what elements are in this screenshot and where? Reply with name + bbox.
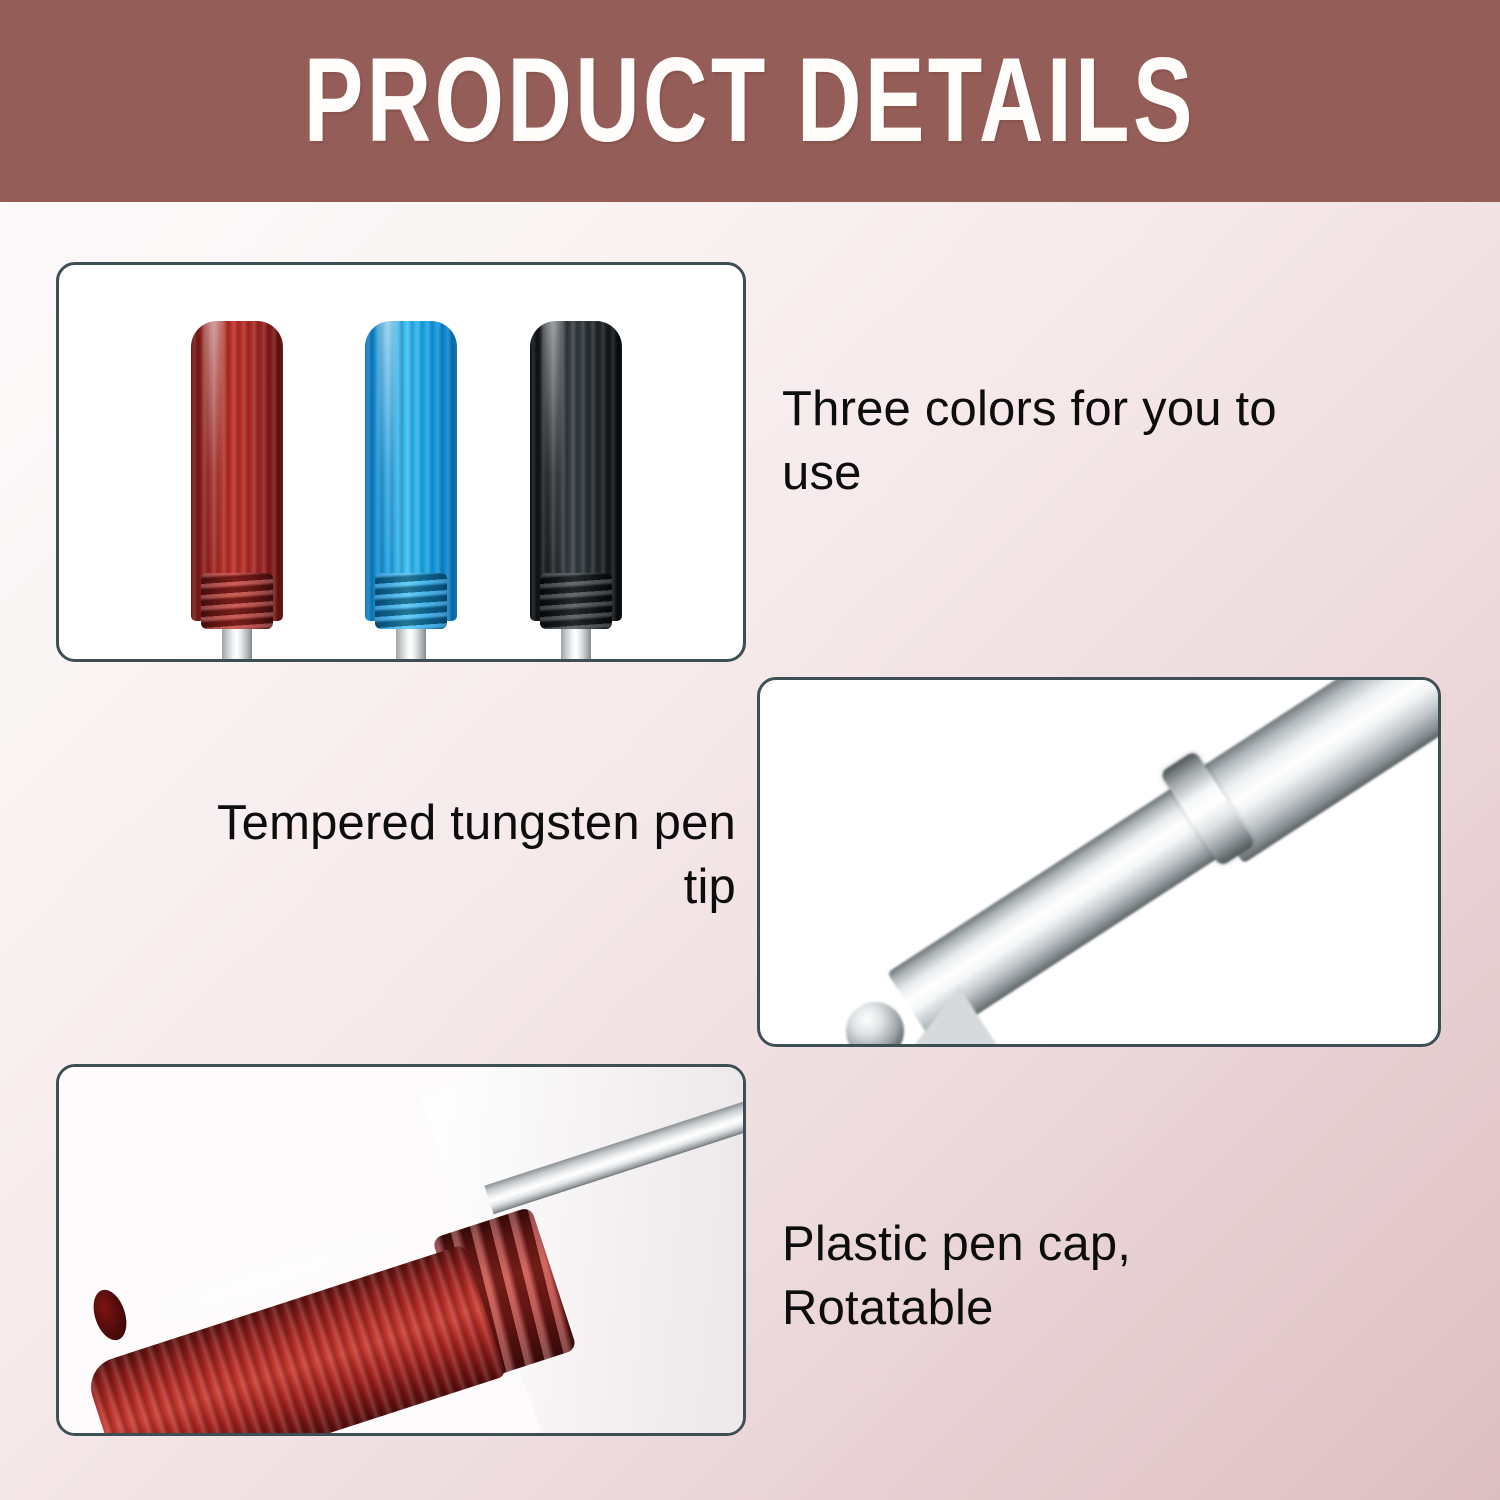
blue-cap-highlight [379,301,396,584]
feature-caption-colors: Three colors for you to use [782,378,1302,505]
black-cap-figure [524,287,628,659]
feature-caption-tip: Tempered tungsten pen tip [180,792,736,919]
plastic-cap-opening [88,1286,133,1345]
page-header-bar: PRODUCT DETAILS [0,0,1500,202]
feature-caption-cap: Plastic pen cap, Rotatable [782,1213,1302,1340]
feature-image-panel-colors [56,262,746,662]
plastic-cap-figure [59,1067,743,1433]
black-cap-highlight [544,301,561,584]
page-title: PRODUCT DETAILS [304,33,1196,170]
red-cap-figure [185,287,289,659]
pen-tip-blur-group [760,680,1438,1044]
feature-image-panel-tip [757,677,1441,1047]
product-details-page: PRODUCT DETAILS Three colors for you to … [0,0,1500,1500]
pen-tip-ballpoint [846,1002,904,1047]
red-cap-highlight [205,301,222,584]
blue-cap-figure [359,287,463,659]
feature-image-panel-cap [56,1064,746,1436]
pen-tip-figure [760,680,1438,1044]
